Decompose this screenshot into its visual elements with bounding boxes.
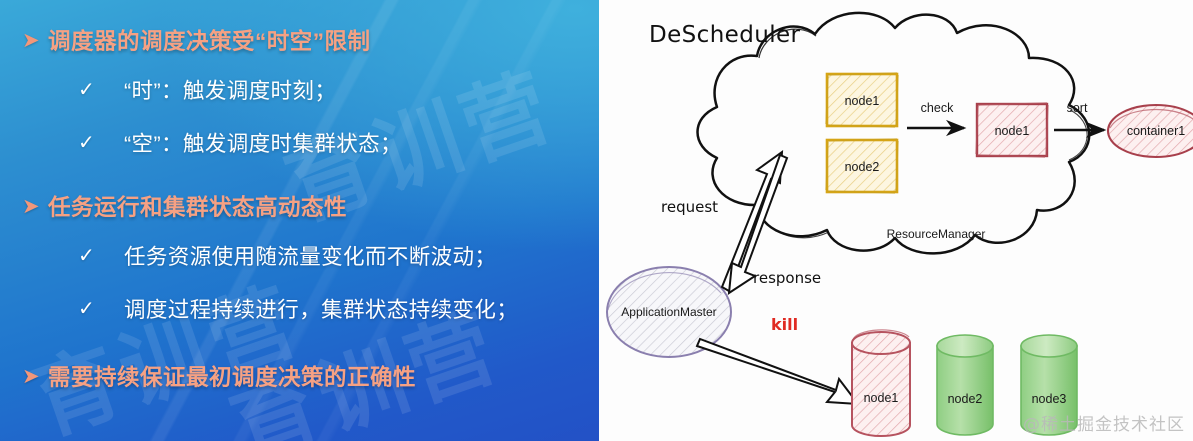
bullet-list: ➤ 调度器的调度决策受“时空”限制 ✓ “时”：触发调度时刻； ✓ “空”：触发… bbox=[0, 0, 599, 392]
bullet-item-level2: ✓ “空”：触发调度时集群状态； bbox=[78, 127, 599, 158]
bullet-text: “时”：触发调度时刻； bbox=[124, 74, 336, 105]
check-bullet-icon: ✓ bbox=[78, 246, 124, 266]
check-bullet-icon: ✓ bbox=[78, 133, 124, 153]
bullet-item-level2: ✓ “时”：触发调度时刻； bbox=[78, 74, 599, 105]
cloud-node-box: node1 bbox=[826, 73, 898, 127]
diagram-title: DeScheduler bbox=[649, 22, 801, 48]
cylinder-node: node2 bbox=[937, 335, 993, 435]
node-label: node1 bbox=[845, 94, 880, 108]
actor-label: ApplicationMaster bbox=[621, 305, 716, 319]
node-label: node2 bbox=[845, 160, 880, 174]
cylinder-node: node1 bbox=[852, 330, 910, 436]
bullet-text: “空”：触发调度时集群状态； bbox=[124, 127, 402, 158]
edge-label-check: check bbox=[921, 101, 954, 115]
bullet-item-level1: ➤ 任务运行和集群状态高动态性 bbox=[22, 190, 599, 222]
bullet-item-level1: ➤ 需要持续保证最初调度决策的正确性 bbox=[22, 360, 599, 392]
arrow-bullet-icon: ➤ bbox=[22, 30, 48, 51]
bullet-item-level2: ✓ 任务资源使用随流量变化而不断波动； bbox=[78, 240, 599, 271]
check-bullet-icon: ✓ bbox=[78, 299, 124, 319]
bullet-text: 调度器的调度决策受“时空”限制 bbox=[48, 24, 371, 56]
container-ellipse: container1 bbox=[1108, 105, 1193, 157]
kill-arrow bbox=[697, 339, 858, 404]
source-watermark: @稀土掘金技术社区 bbox=[1023, 410, 1185, 435]
bullet-item-level1: ➤ 调度器的调度决策受“时空”限制 bbox=[22, 24, 599, 56]
container-label: container1 bbox=[1127, 124, 1185, 138]
bullet-text: 调度过程持续进行，集群状态持续变化； bbox=[124, 293, 518, 324]
node-label: node1 bbox=[995, 124, 1030, 138]
message-label-request: request bbox=[661, 198, 718, 216]
bullet-text: 任务运行和集群状态高动态性 bbox=[48, 190, 347, 222]
slide-left-panel: 育训营 育训营 育训营 ➤ 调度器的调度决策受“时空”限制 ✓ “时”：触发调度… bbox=[0, 0, 599, 441]
bullet-item-level2: ✓ 调度过程持续进行，集群状态持续变化； bbox=[78, 293, 599, 324]
cylinder-label: node1 bbox=[864, 391, 899, 405]
edge-label-sort: sort bbox=[1067, 101, 1088, 115]
cylinder-label: node2 bbox=[948, 392, 983, 406]
bullet-text: 需要持续保证最初调度决策的正确性 bbox=[48, 360, 416, 392]
slide-screenshot: 育训营 育训营 育训营 ➤ 调度器的调度决策受“时空”限制 ✓ “时”：触发调度… bbox=[0, 0, 1193, 441]
cloud-label: ResourceManager bbox=[887, 227, 986, 241]
cylinder-label: node3 bbox=[1032, 392, 1067, 406]
arrow-bullet-icon: ➤ bbox=[22, 196, 48, 217]
check-bullet-icon: ✓ bbox=[78, 80, 124, 100]
message-label-response: response bbox=[753, 269, 821, 287]
bullet-text: 任务资源使用随流量变化而不断波动； bbox=[124, 240, 496, 271]
pipeline-node-box: node1 bbox=[976, 103, 1048, 157]
arrow-bullet-icon: ➤ bbox=[22, 366, 48, 387]
architecture-diagram-panel: DeScheduler node1 node2 check node1 bbox=[599, 0, 1193, 441]
cloud-node-box: node2 bbox=[826, 139, 898, 193]
message-label-kill: kill bbox=[771, 315, 798, 334]
diagram-canvas: DeScheduler node1 node2 check node1 bbox=[599, 0, 1193, 441]
